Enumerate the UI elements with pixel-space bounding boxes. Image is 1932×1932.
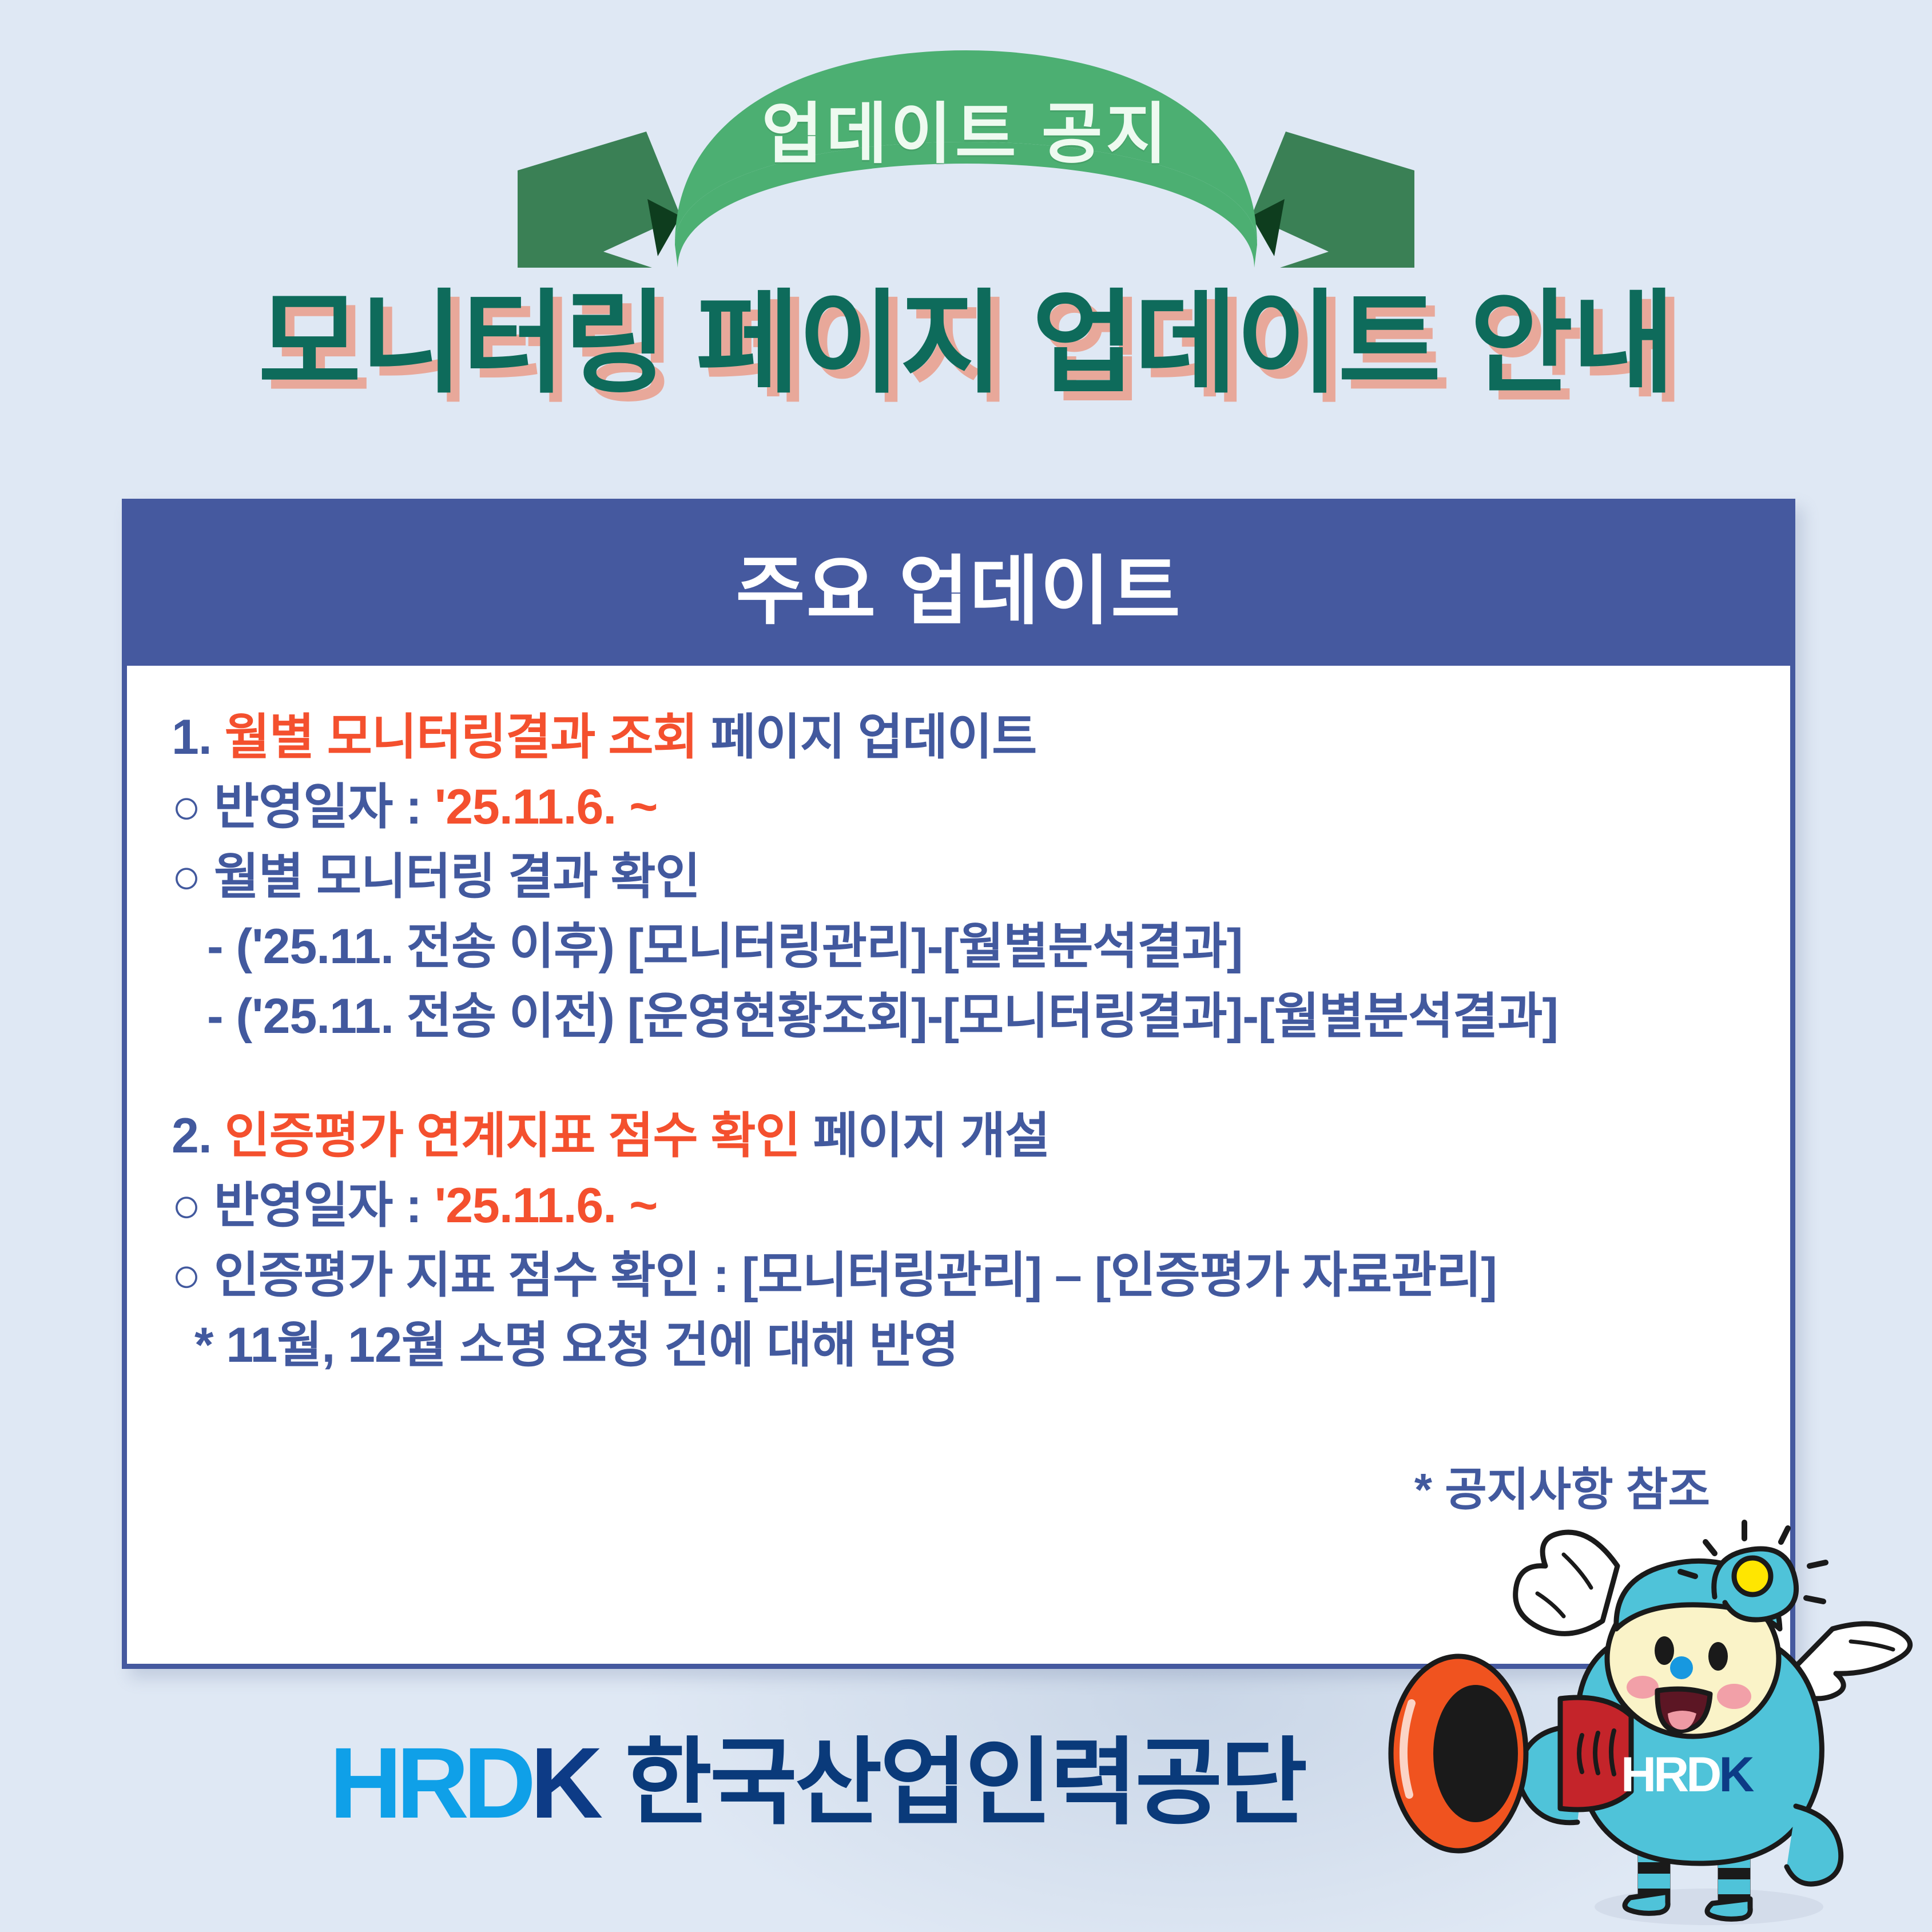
mascot-sparkle-5 bbox=[1810, 1563, 1826, 1566]
section-2-bullet-date-label: ○ 반영일자 : bbox=[172, 1178, 435, 1233]
mascot-svg bbox=[1372, 1457, 1932, 1932]
section-1-bullet-check: ○ 월별 모니터링 결과 확인 bbox=[172, 842, 1790, 912]
poster-canvas: 업데이트 공지 모니터링 페이지 업데이트 안내 주요 업데이트 1. 월별 모… bbox=[0, 0, 1932, 1932]
mascot-antenna-light bbox=[1734, 1558, 1771, 1595]
megaphone-mouth bbox=[1433, 1685, 1518, 1822]
mascot-nose bbox=[1670, 1656, 1693, 1679]
hrdk-logo-hrd: HRD bbox=[329, 1727, 530, 1839]
organization-name: 한국산업인력공단 bbox=[625, 1736, 1305, 1831]
section-1-bullet-date-label: ○ 반영일자 : bbox=[172, 780, 435, 834]
section-1-sub-2: - ('25.11. 전송 이전) [운영현황조회]-[모니터링결과]-[월별분… bbox=[172, 981, 1790, 1051]
mascot-cheek-right bbox=[1717, 1684, 1751, 1709]
section-1-highlight: 월별 모니터링결과 조회 bbox=[225, 710, 698, 765]
mascot-foot-right bbox=[1707, 1899, 1750, 1919]
mascot-sparkle-6 bbox=[1806, 1598, 1823, 1601]
mascot-arm-right bbox=[1787, 1806, 1841, 1884]
section-2-heading: 2. 인증평가 연계지표 점수 확인 페이지 개설 bbox=[172, 1101, 1790, 1171]
section-2-note: * 11월, 12월 소명 요청 건에 대해 반영 bbox=[172, 1310, 1790, 1380]
section-1-rest: 페이지 업데이트 bbox=[698, 710, 1037, 765]
section-2-bullet-date: ○ 반영일자 : '25.11.6. ~ bbox=[172, 1171, 1790, 1241]
page-title: 모니터링 페이지 업데이트 안내 bbox=[0, 285, 1932, 403]
hrdk-logo: HRDK bbox=[329, 1733, 597, 1834]
section-2-bullet-date-value: '25.11.6. ~ bbox=[435, 1178, 658, 1233]
hrdk-logo-k: K bbox=[530, 1727, 597, 1839]
section-2-rest: 페이지 개설 bbox=[800, 1108, 1050, 1163]
section-1-bullet-date-value: '25.11.6. ~ bbox=[435, 780, 658, 834]
mascot-body-logo-hrd: HRD bbox=[1621, 1747, 1719, 1802]
mascot-sparkle-3 bbox=[1781, 1528, 1788, 1542]
card-header-title: 주요 업데이트 bbox=[736, 530, 1181, 639]
ribbon-label: 업데이트 공지 bbox=[0, 80, 1932, 176]
ribbon-banner: 업데이트 공지 bbox=[0, 27, 1932, 268]
section-1-sub-1: - ('25.11. 전송 이후) [모니터링관리]-[월별분석결과] bbox=[172, 912, 1790, 981]
card-header: 주요 업데이트 bbox=[127, 504, 1790, 666]
section-1-heading: 1. 월별 모니터링결과 조회 페이지 업데이트 bbox=[172, 702, 1790, 772]
section-2-bullet-path: ○ 인증평가 지표 점수 확인 : [모니터링관리] – [인증평가 자료관리] bbox=[172, 1241, 1790, 1310]
mascot-cheek-left bbox=[1627, 1676, 1659, 1699]
section-1-number: 1. bbox=[172, 710, 225, 765]
section-1-bullet-date: ○ 반영일자 : '25.11.6. ~ bbox=[172, 772, 1790, 842]
mascot-eye-left bbox=[1655, 1636, 1674, 1665]
mascot-foot-left bbox=[1625, 1892, 1668, 1913]
section-gap bbox=[172, 1052, 1790, 1101]
mascot-body-logo-k: K bbox=[1719, 1747, 1751, 1802]
mascot-wing-head bbox=[1516, 1532, 1617, 1633]
mascot-character: HRDK bbox=[1372, 1457, 1932, 1932]
mascot-eye-right bbox=[1708, 1642, 1728, 1671]
mascot-sparkle-1 bbox=[1706, 1542, 1715, 1553]
mascot-body-logo: HRDK bbox=[1621, 1750, 1751, 1799]
section-2-highlight: 인증평가 연계지표 점수 확인 bbox=[225, 1108, 800, 1163]
section-2-number: 2. bbox=[172, 1108, 225, 1163]
